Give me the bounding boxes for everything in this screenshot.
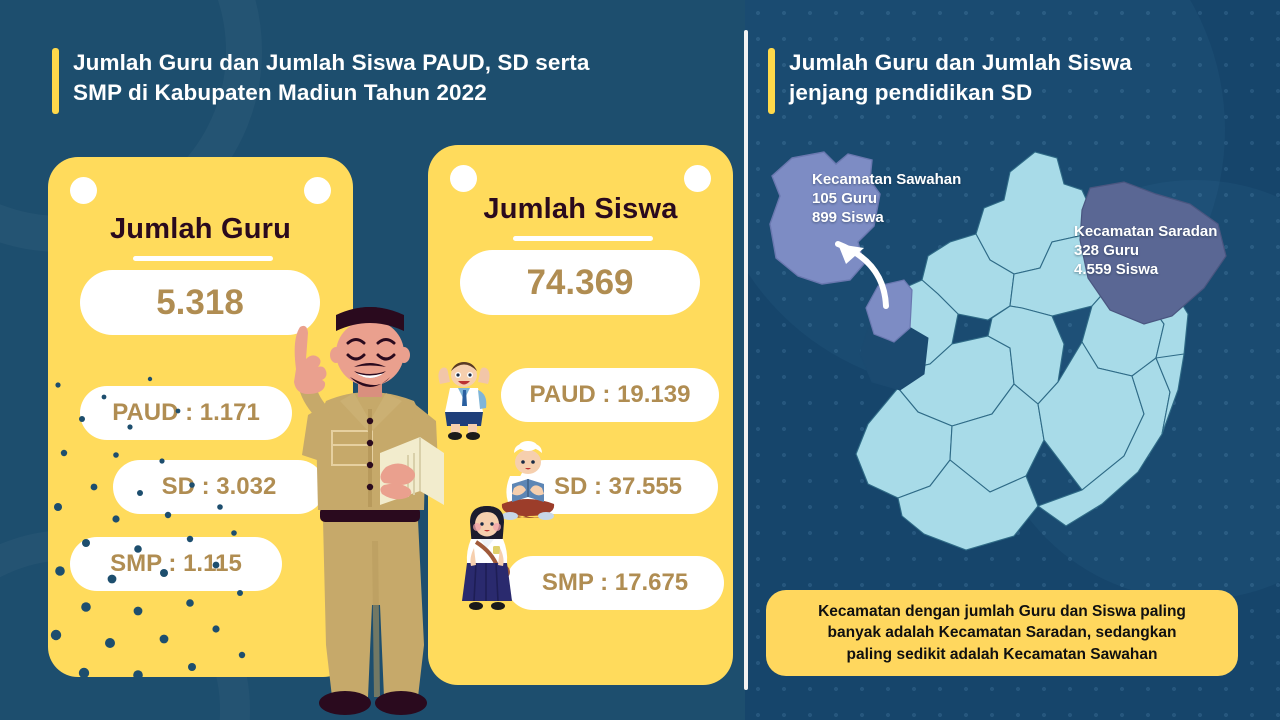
card-guru-row-paud: PAUD : 1.171	[80, 386, 292, 440]
punch-hole-right-icon	[684, 165, 711, 192]
map-caption-box: Kecamatan dengan jumlah Guru dan Siswa p…	[766, 590, 1238, 676]
map-kabupaten-madiun: Kecamatan Sawahan 105 Guru 899 Siswa Kec…	[752, 138, 1272, 568]
punch-hole-right-icon	[304, 177, 331, 204]
punch-hole-left-icon	[70, 177, 97, 204]
card-guru-row-smp: SMP : 1.115	[70, 537, 282, 591]
card-guru-heading-rule	[133, 256, 273, 261]
left-title-text: Jumlah Guru dan Jumlah Siswa PAUD, SD se…	[73, 48, 590, 107]
infographic-canvas: Jumlah Guru dan Jumlah Siswa PAUD, SD se…	[0, 0, 1280, 720]
card-siswa-row-paud: PAUD : 19.139	[501, 368, 719, 422]
student-smp-illustration	[452, 502, 522, 614]
card-guru-heading: Jumlah Guru	[48, 213, 353, 246]
title-accent-bar	[768, 48, 775, 114]
card-siswa-heading: Jumlah Siswa	[428, 193, 733, 226]
right-title-text: Jumlah Guru dan Jumlah Siswa jenjang pen…	[789, 48, 1132, 107]
card-siswa-row-smp: SMP : 17.675	[506, 556, 724, 610]
student-paud-illustration	[428, 358, 500, 440]
card-siswa-heading-rule	[513, 236, 653, 241]
card-siswa-total-pill: 74.369	[460, 250, 700, 315]
map-label-saradan: Kecamatan Saradan 328 Guru 4.559 Siswa	[1074, 222, 1217, 280]
title-accent-bar	[52, 48, 59, 114]
map-caption-text: Kecamatan dengan jumlah Guru dan Siswa p…	[804, 601, 1200, 665]
right-title: Jumlah Guru dan Jumlah Siswa jenjang pen…	[768, 48, 1238, 114]
map-label-sawahan: Kecamatan Sawahan 105 Guru 899 Siswa	[812, 170, 961, 228]
panel-divider	[744, 30, 748, 690]
left-title: Jumlah Guru dan Jumlah Siswa PAUD, SD se…	[52, 48, 712, 114]
punch-hole-left-icon	[450, 165, 477, 192]
